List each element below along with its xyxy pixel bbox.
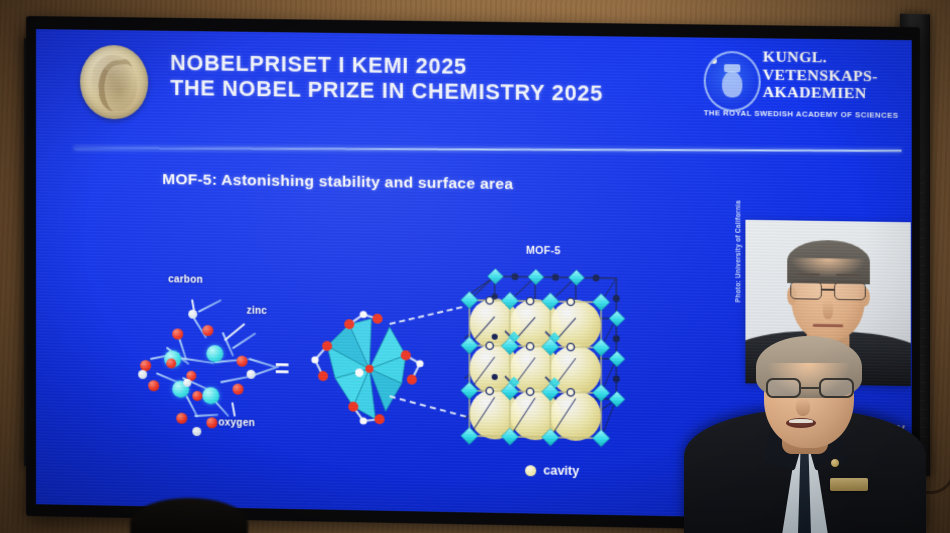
screenshot-stage: NOBELPRISET I KEMI 2025 THE NOBEL PRIZE … — [0, 0, 950, 533]
seal-ring — [711, 58, 717, 64]
glasses-lens-left — [790, 281, 822, 299]
slide-subtitle: MOF-5: Astonishing stability and surface… — [162, 171, 513, 194]
cavity-legend: cavity — [525, 463, 579, 478]
atom-carbon — [192, 427, 201, 436]
glasses-bridge — [801, 387, 819, 389]
atom-zinc — [206, 345, 223, 362]
slide-header: NOBELPRISET I KEMI 2025 THE NOBEL PRIZE … — [36, 29, 912, 137]
royal-academy-seal-icon — [704, 51, 761, 112]
presenter-name-badge — [830, 478, 868, 491]
atom-oxygen — [237, 356, 248, 367]
atom-oxygen — [202, 325, 213, 336]
glasses-lens-right — [819, 378, 854, 398]
bond — [232, 332, 257, 349]
academy-logo: KUNGL. VETENSKAPS- AKADEMIEN THE ROYAL S… — [702, 46, 912, 132]
academy-line-1: KUNGL. — [763, 48, 878, 67]
slide-titles: NOBELPRISET I KEMI 2025 THE NOBEL PRIZE … — [170, 51, 603, 107]
mof-lattice-svg — [456, 268, 640, 450]
glasses-lens-right — [834, 282, 866, 301]
portrait-brow-left — [795, 273, 820, 276]
presenter-at-podium — [690, 334, 920, 533]
label-zinc: zinc — [247, 306, 267, 317]
equals-sign: = — [275, 355, 290, 384]
portrait-brow-right — [836, 274, 861, 277]
presenter-lapel-pin — [831, 459, 839, 467]
mof5-lattice-diagram — [456, 268, 640, 450]
presenter-mouth — [786, 418, 816, 428]
molecular-cluster-diagram: carbon zinc oxygen — [136, 276, 327, 445]
seal-head — [722, 71, 743, 97]
presenter-nose — [796, 398, 810, 416]
label-oxygen: oxygen — [218, 417, 254, 429]
atom-oxygen — [166, 358, 176, 368]
atom-oxygen — [148, 380, 159, 391]
atom-carbon — [247, 370, 256, 379]
label-carbon: carbon — [168, 274, 203, 286]
portrait-hair — [787, 240, 870, 284]
portrait-mouth — [813, 324, 843, 328]
label-leader — [232, 402, 236, 416]
glasses-bridge — [822, 289, 834, 291]
academy-subtitle: THE ROYAL SWEDISH ACADEMY OF SCIENCES — [704, 108, 899, 120]
presenter-glasses-icon — [766, 378, 854, 398]
academy-wordmark: KUNGL. VETENSKAPS- AKADEMIEN — [763, 48, 878, 103]
nobel-medal-icon — [80, 45, 148, 120]
academy-line-3: AKADEMIEN — [763, 84, 878, 103]
atom-oxygen — [172, 328, 183, 339]
bond — [198, 299, 222, 313]
atom-zinc — [202, 387, 219, 404]
label-leader — [224, 323, 245, 341]
atom-carbon — [138, 370, 147, 379]
atom-oxygen — [233, 384, 244, 395]
portrait-nose — [823, 299, 833, 319]
portrait-glasses-icon — [790, 281, 866, 300]
mof5-label: MOF-5 — [526, 245, 561, 258]
header-divider — [74, 147, 901, 152]
atom-oxygen — [176, 413, 187, 424]
atom-oxygen — [192, 391, 202, 401]
academy-line-2: VETENSKAPS- — [763, 66, 878, 85]
glasses-lens-left — [766, 378, 801, 398]
polyhedral-cluster-diagram — [305, 306, 436, 437]
atom-carbon — [183, 379, 191, 387]
photo-credit: Photo: University of California — [735, 290, 742, 302]
title-english: THE NOBEL PRIZE IN CHEMISTRY 2025 — [170, 76, 603, 107]
tetrahedra-svg — [305, 306, 436, 437]
cavity-legend-label: cavity — [543, 463, 579, 478]
cavity-dot-icon — [525, 465, 536, 476]
atom-oxygen — [206, 417, 217, 428]
